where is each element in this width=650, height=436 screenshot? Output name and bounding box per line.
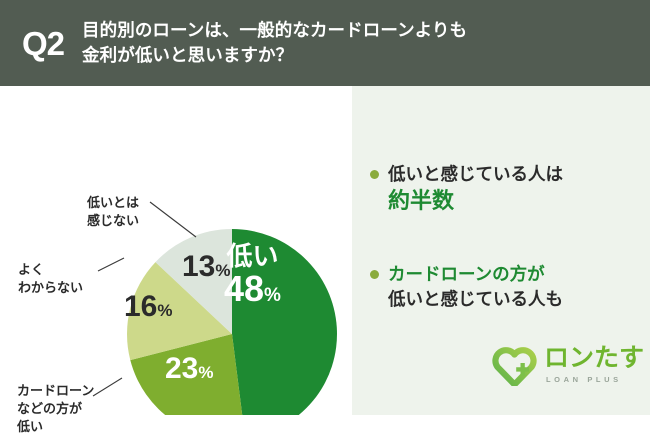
slice-label-unknown: 16% <box>124 292 173 322</box>
slice-inside-label-low: 低い <box>224 243 281 270</box>
page-title: 目的別のローンは、一般的なカードローンよりも 金利が低いと思いますか？ <box>82 18 477 68</box>
callout-unknown-line-2: わからない <box>18 279 83 297</box>
percent-sign-unknown: % <box>157 301 172 320</box>
callout-unknown-line-1: よく <box>18 261 83 279</box>
summary-bullet-2-line-1: カードローンの方が <box>388 262 563 287</box>
logo-text: ロンたす LOAN PLUS <box>544 346 644 384</box>
slice-label-card: 23% <box>165 354 214 384</box>
bullet-dot-icon <box>370 170 379 179</box>
heart-plus-icon <box>492 344 537 386</box>
brand-logo: ロンたす LOAN PLUS <box>492 344 644 386</box>
question-header: Q2 目的別のローンは、一般的なカードローンよりも 金利が低いと思いますか？ <box>0 0 650 86</box>
leader-line-card <box>93 378 122 396</box>
question-number-badge: Q2 <box>22 27 64 60</box>
logo-en-text: LOAN PLUS <box>546 375 644 384</box>
bullet-dot-icon <box>370 270 379 279</box>
percent-sign-card: % <box>198 363 213 382</box>
slice-value-card: 23 <box>165 352 198 385</box>
percent-sign-low: % <box>264 285 281 306</box>
summary-bullet-1-line-2: 約半数 <box>388 187 563 215</box>
slice-label-low-not: 13% <box>182 252 231 282</box>
summary-panel: 低いと感じている人は 約半数 カードローンの方が 低いと感じている人も <box>352 86 650 415</box>
callout-low-not-line-1: 低いとは <box>87 194 139 212</box>
callout-low-not-line-2: 感じない <box>87 212 139 230</box>
callout-card-line-2: などの方が <box>17 400 94 418</box>
slice-label-low: 低い 48% <box>224 243 281 308</box>
percent-sign-low-not: % <box>215 261 230 280</box>
leader-line-low-not <box>150 202 196 237</box>
callout-unknown: よく わからない <box>18 261 83 297</box>
question-title-line-1: 目的別のローンは、一般的なカードローンよりも <box>82 18 467 43</box>
summary-bullet-1-text: 低いと感じている人は 約半数 <box>388 162 563 214</box>
callout-card-line-3: 低い <box>17 418 94 436</box>
leader-line-unknown <box>98 258 124 271</box>
callout-card: カードローン などの方が 低い <box>17 382 94 436</box>
callout-low-not: 低いとは 感じない <box>87 194 139 230</box>
pie-chart: 低い 48% 23% 16% 13% 低いとは 感じない よく わからない カー… <box>0 86 352 415</box>
summary-bullet-2-line-2: 低いと感じている人も <box>388 287 563 312</box>
slice-value-low-not: 13 <box>182 250 215 283</box>
slice-value-unknown: 16 <box>124 290 157 323</box>
callout-card-line-1: カードローン <box>17 382 94 400</box>
summary-bullet-1-line-1: 低いと感じている人は <box>388 162 563 187</box>
content-area: 低い 48% 23% 16% 13% 低いとは 感じない よく わからない カー… <box>0 86 650 415</box>
summary-bullet-2-text: カードローンの方が 低いと感じている人も <box>388 262 563 311</box>
logo-jp-text: ロンたす <box>544 346 644 371</box>
summary-bullet-1: 低いと感じている人は 約半数 <box>370 162 642 214</box>
question-title-line-2: 金利が低いと思いますか？ <box>82 43 467 68</box>
summary-bullet-2: カードローンの方が 低いと感じている人も <box>370 262 642 311</box>
